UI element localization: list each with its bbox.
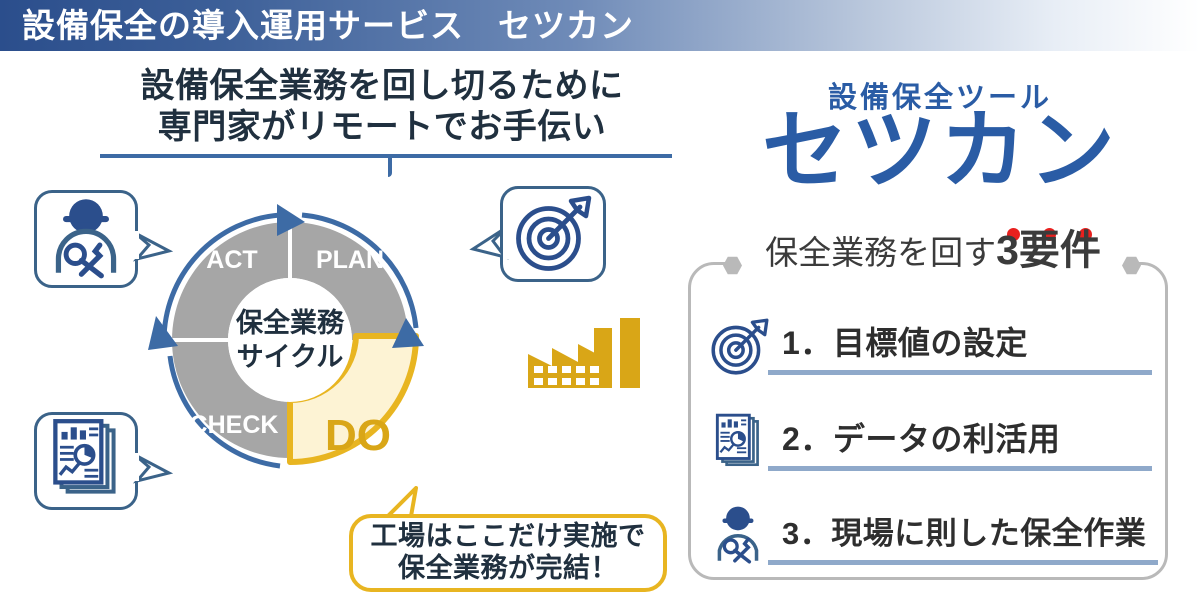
report-documents-icon — [37, 415, 135, 507]
requirement-item-3-underline — [768, 560, 1158, 565]
bubble-reports — [34, 412, 138, 510]
headline-line-2: 専門家がリモートでお手伝い — [92, 107, 672, 148]
requirement-item-2: 2．データの利活用 — [706, 402, 1152, 488]
header-title: 設備保全の導入運用サービス セツカン — [22, 4, 634, 48]
headline-line-1: 設備保全業務を回し切るために — [92, 66, 672, 107]
cycle-center-line-2: サイクル — [237, 342, 344, 372]
bubble-target-tail — [469, 223, 509, 269]
cycle-hub — [228, 278, 352, 402]
cycle-label-act: ACT — [206, 246, 257, 274]
requirements-heading-emphasis: 3要件 — [996, 227, 1101, 273]
requirements-heading: 保全業務を回す3要件 — [716, 230, 1150, 273]
bubble-worker-tail — [133, 229, 173, 271]
cycle-label-do: DO — [325, 411, 391, 460]
gold-callout: 工場はここだけ実施で 保全業務が完結！ — [349, 514, 667, 592]
worker-wrench-icon — [706, 500, 772, 572]
requirements-heading-prefix: 保全業務を回す — [765, 234, 996, 271]
requirement-item-1-number: 1． — [782, 325, 833, 361]
cycle-label-check: CHECK — [190, 411, 279, 439]
requirement-item-3-number: 3． — [782, 516, 831, 551]
requirement-item-1: 1．目標値の設定 — [706, 306, 1152, 392]
requirement-item-2-underline — [768, 466, 1152, 471]
header-bar: 設備保全の導入運用サービス セツカン — [0, 0, 1200, 51]
infographic-canvas: 設備保全の導入運用サービス セツカン 設備保全業務を回し切るために 専門家がリモ… — [0, 0, 1200, 600]
requirement-item-2-number: 2． — [782, 421, 833, 457]
requirement-item-1-text: 目標値の設定 — [833, 325, 1028, 361]
report-documents-icon — [706, 406, 772, 478]
bubble-worker — [34, 190, 138, 288]
requirement-item-3-text: 現場に則した保全作業 — [831, 516, 1146, 551]
cycle-graphic: PLAN ACT CHECK DO 保全業務 サイクル — [120, 160, 540, 560]
factory-icon — [522, 308, 650, 400]
bubble-target — [500, 186, 606, 282]
target-dart-icon — [706, 310, 772, 382]
headline-divider — [100, 154, 672, 158]
requirement-item-3: 3．現場に則した保全作業 — [706, 496, 1152, 582]
product-name: セツカン — [690, 108, 1190, 194]
maintenance-cycle-diagram: PLAN ACT CHECK DO 保全業務 サイクル — [120, 160, 540, 560]
requirement-item-2-label: 2．データの利活用 — [782, 414, 1060, 460]
left-headline: 設備保全業務を回し切るために 専門家がリモートでお手伝い — [92, 66, 672, 149]
bubble-reports-tail — [133, 451, 173, 493]
target-dart-icon — [505, 189, 601, 279]
requirement-item-1-underline — [768, 370, 1152, 375]
callout-line-2: 保全業務が完結！ — [353, 553, 663, 585]
callout-line-1: 工場はここだけ実施で — [353, 521, 663, 553]
cycle-center-line-1: 保全業務 — [235, 307, 345, 338]
cycle-label-plan: PLAN — [316, 246, 384, 274]
worker-wrench-icon — [37, 193, 135, 285]
requirement-item-3-label: 3．現場に則した保全作業 — [782, 508, 1146, 553]
requirement-item-1-label: 1．目標値の設定 — [782, 318, 1028, 364]
requirement-item-2-text: データの利活用 — [833, 421, 1061, 457]
